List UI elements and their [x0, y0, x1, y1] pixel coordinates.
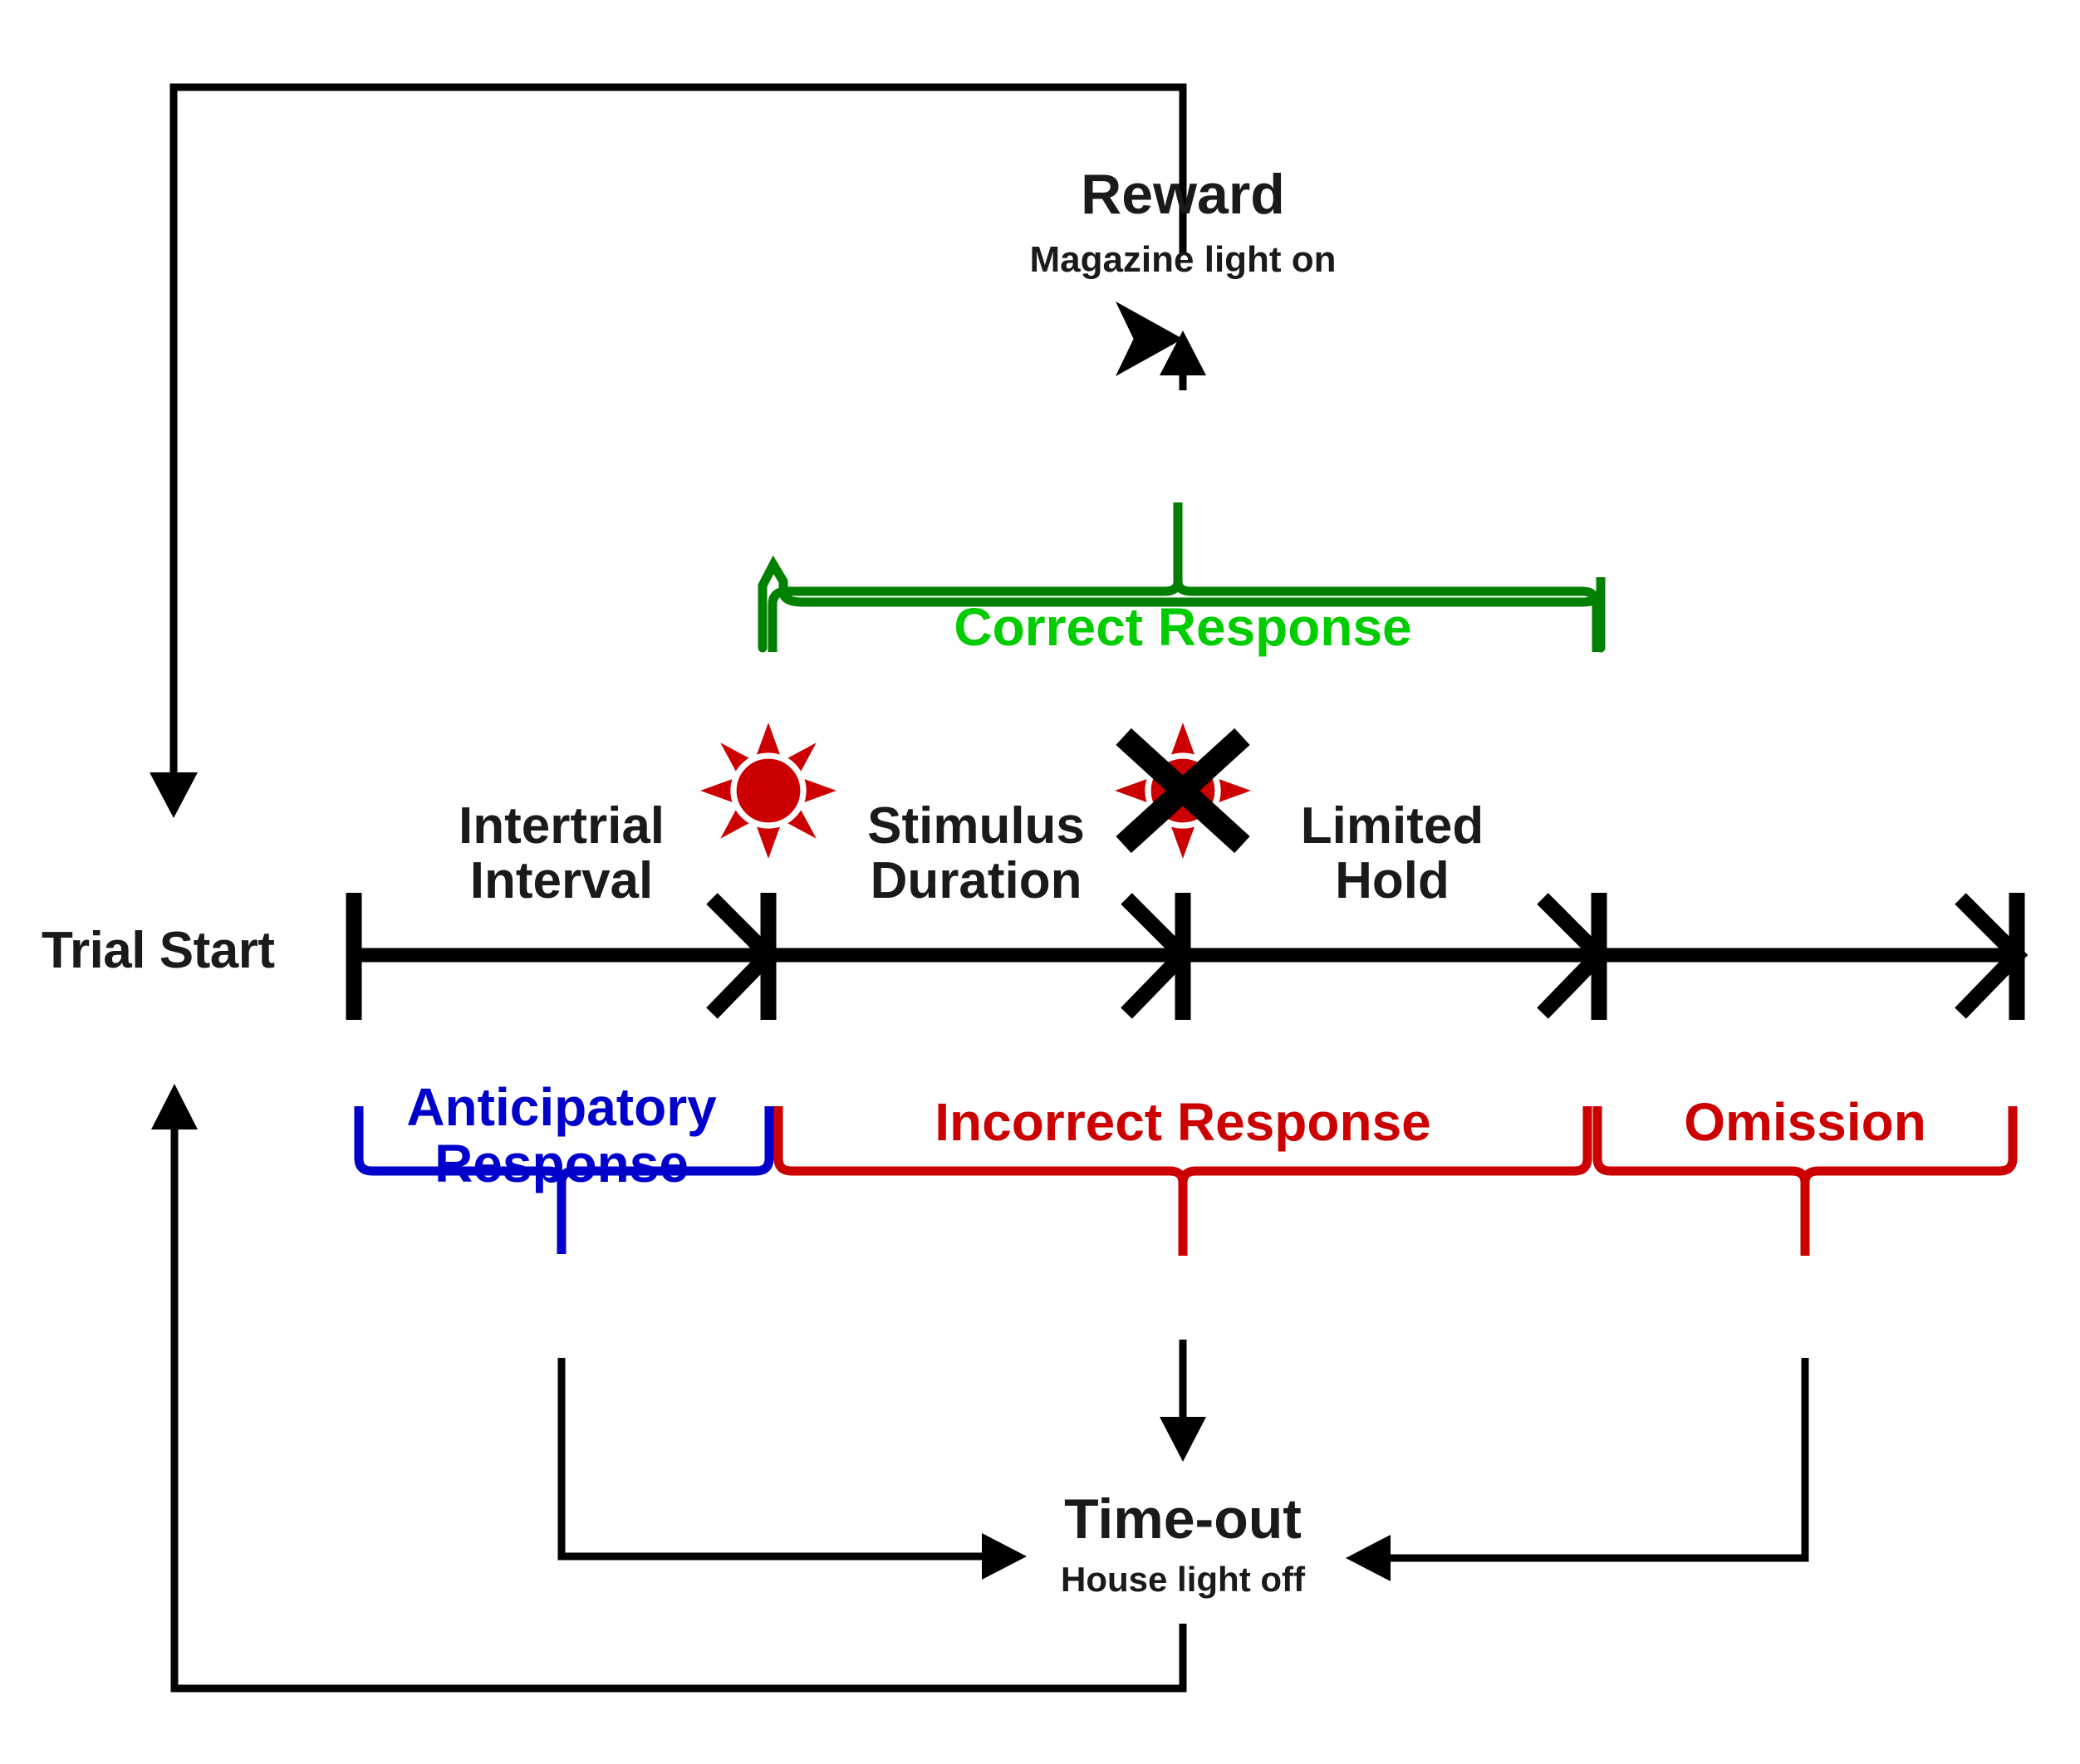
segment-label-line2: Duration: [871, 852, 1082, 909]
segment-label-line2: Interval: [470, 852, 654, 909]
omission-to-timeout-connector: [1346, 1358, 1805, 1581]
reward-subtitle: Magazine light on: [1029, 241, 1336, 280]
timeline-axis: [354, 893, 2017, 1020]
incorrect-response-label: Incorrect Response: [935, 1095, 1431, 1151]
segment-label-limited-hold: Limited Hold: [1301, 799, 1484, 908]
reward-to-trial-start-loop: [150, 87, 1183, 818]
segment-label-line2: Hold: [1335, 852, 1450, 909]
anticipatory-response-label-line2: Response: [434, 1134, 689, 1193]
segment-label-line1: Limited: [1301, 797, 1484, 855]
omission-label: Omission: [1684, 1095, 1926, 1151]
anticipatory-response-label: Anticipatory Response: [406, 1080, 716, 1193]
anticipatory-to-timeout-connector: [562, 1358, 1027, 1580]
reward-arrow: [1160, 331, 1206, 390]
incorrect-to-timeout-arrow: [1160, 1340, 1206, 1462]
trial-structure-diagram: Trial Start Reward Magazine light on Cor…: [0, 0, 2080, 1764]
segment-label-stimulus-duration: Stimulus Duration: [867, 799, 1085, 908]
segment-label-line1: Intertrial: [459, 797, 665, 855]
segment-label-intertrial-interval: Intertrial Interval: [459, 799, 665, 908]
segment-label-line1: Stimulus: [867, 797, 1085, 855]
reward-title: Reward: [1081, 164, 1285, 224]
stimulus-light-off-icon: [1115, 723, 1251, 859]
trial-start-label: Trial Start: [42, 924, 275, 978]
timeout-title: Time-out: [1064, 1489, 1302, 1549]
anticipatory-response-label-line1: Anticipatory: [406, 1077, 716, 1137]
correct-response-label: Correct Response: [954, 600, 1411, 656]
stimulus-light-on-icon: [700, 723, 836, 859]
timeout-subtitle: House light off: [1061, 1561, 1305, 1599]
